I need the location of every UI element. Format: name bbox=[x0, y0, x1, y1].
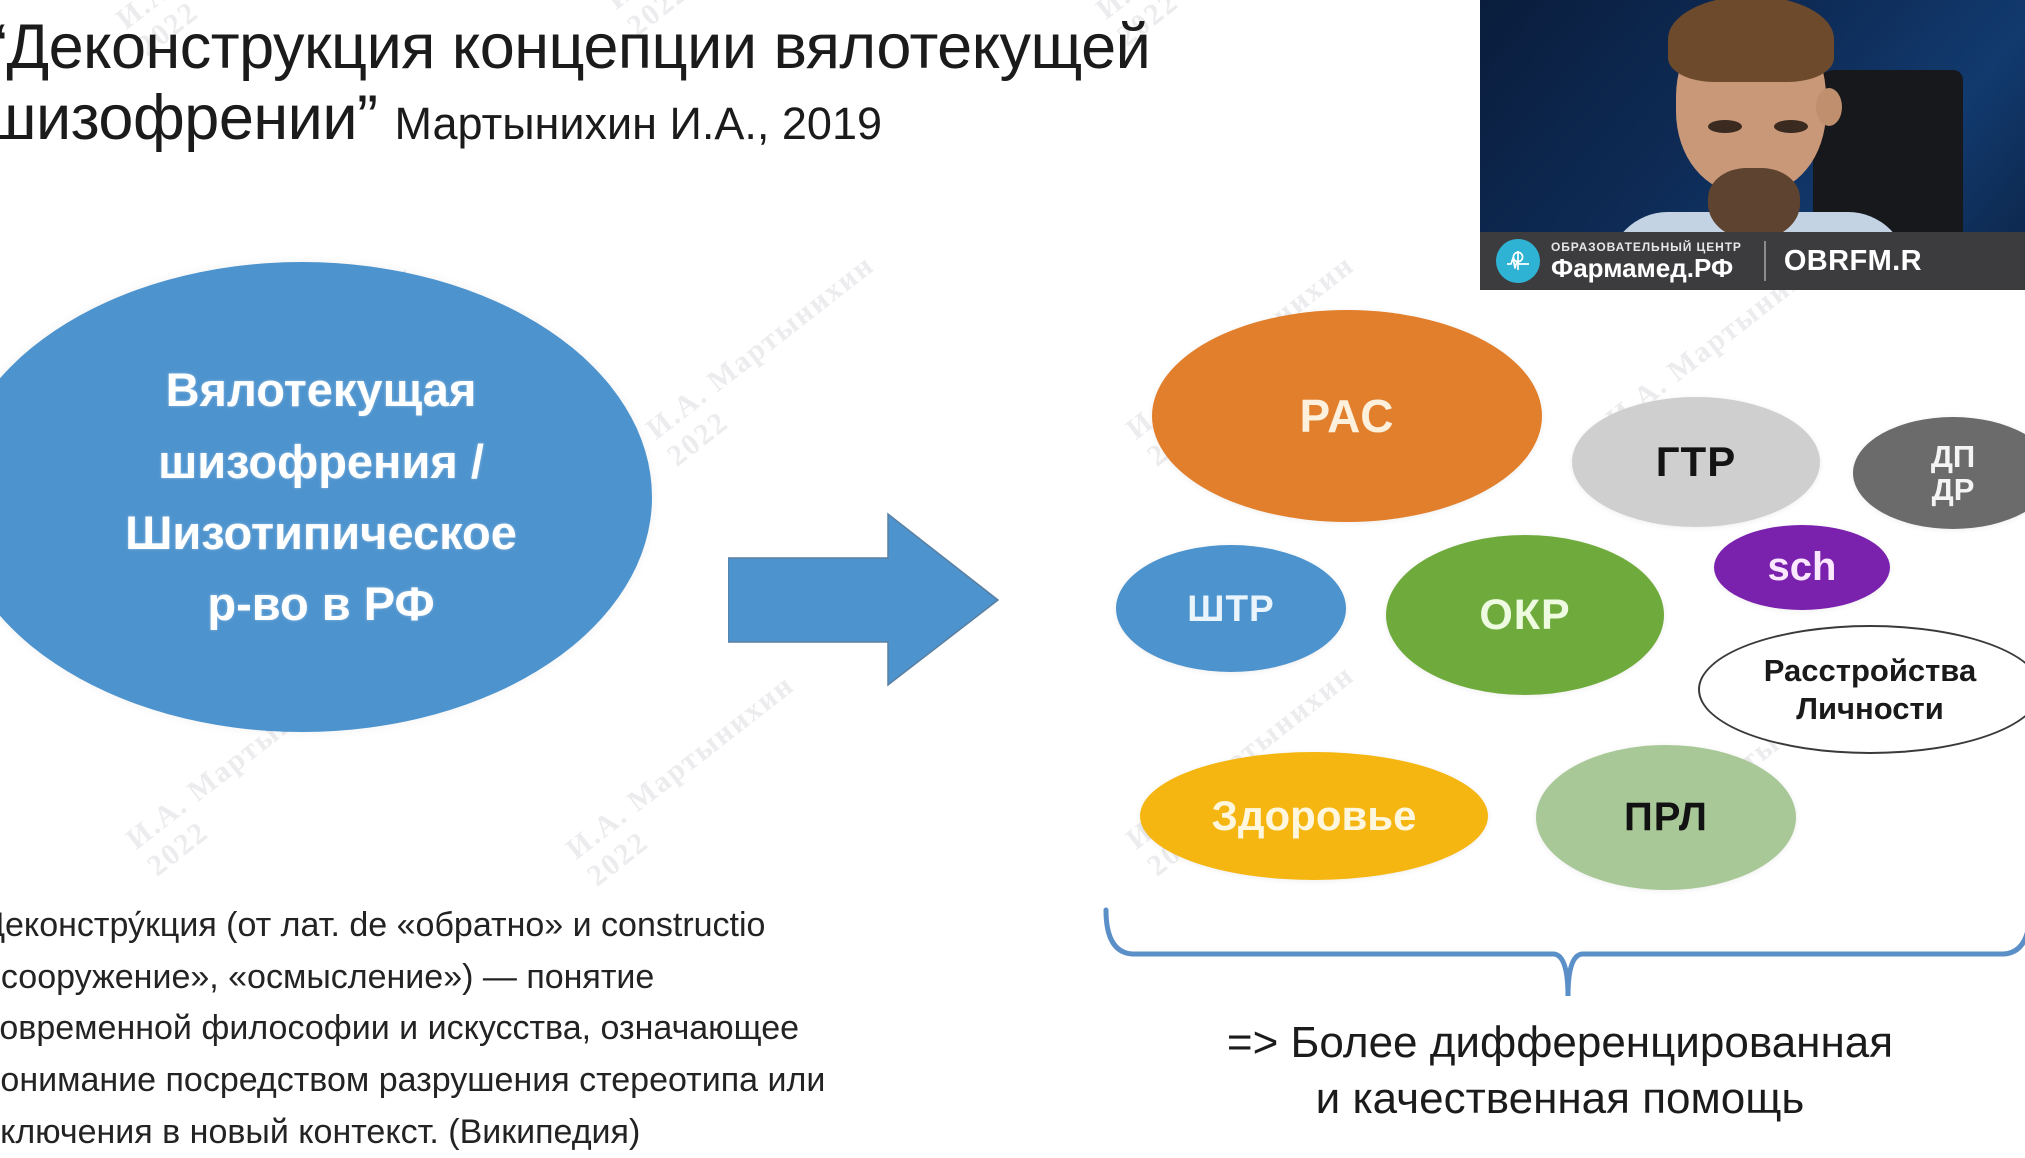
pharmamed-logo-icon bbox=[1496, 239, 1540, 283]
diagnosis-ellipse-health: Здоровье bbox=[1140, 752, 1488, 880]
title-line-2-text: шизофрении” bbox=[0, 83, 378, 153]
banner-divider bbox=[1764, 241, 1766, 281]
diagnosis-label-sch: sch bbox=[1768, 545, 1837, 590]
watermark: И.А. Мартынихин2022 bbox=[560, 668, 822, 894]
broadcast-banner: ОБРАЗОВАТЕЛЬНЫЙ ЦЕНТР Фармамед.РФ OBRFM.… bbox=[1480, 232, 2025, 290]
source-concept-label: Вялотекущая шизофрения / Шизотипическое … bbox=[87, 354, 517, 640]
speaker-eye-right bbox=[1774, 120, 1808, 133]
source-concept-line-4: р-во в РФ bbox=[125, 568, 517, 639]
dp-line: ДП bbox=[1931, 440, 1975, 473]
slide-title: “Деконструкция концепции вялотекущей шиз… bbox=[0, 12, 1126, 154]
definition-paragraph: Деконстру́кция (от лат. de «обратно» и c… bbox=[0, 900, 832, 1158]
source-concept-line-2: шизофрения / bbox=[125, 426, 517, 497]
caption-line-2: и качественная помощь bbox=[1090, 1071, 2025, 1127]
diagnosis-label-dp-dr: ДП ДР bbox=[1931, 440, 1975, 507]
source-concept-ellipse: Вялотекущая шизофрения / Шизотипическое … bbox=[0, 262, 652, 732]
speaker-eye-left bbox=[1708, 120, 1742, 133]
banner-eyebrow: ОБРАЗОВАТЕЛЬНЫЙ ЦЕНТР bbox=[1551, 241, 1742, 253]
speaker-video-overlay[interactable]: ОБРАЗОВАТЕЛЬНЫЙ ЦЕНТР Фармамед.РФ OBRFM.… bbox=[1480, 0, 2025, 290]
diagnosis-ellipse-okr: ОКР bbox=[1386, 535, 1664, 695]
diagnosis-ellipse-dp-dr: ДП ДР bbox=[1853, 417, 2025, 529]
diagnosis-ellipse-personality-disorders: Расстройства Личности bbox=[1698, 625, 2025, 754]
pd-line-1: Расстройства bbox=[1764, 652, 1976, 690]
banner-text-group: ОБРАЗОВАТЕЛЬНЫЙ ЦЕНТР Фармамед.РФ bbox=[1551, 241, 1742, 281]
title-author: Мартынихин И.А., 2019 bbox=[395, 98, 882, 149]
conclusion-caption: => Более дифференцированная и качественн… bbox=[1090, 1015, 2025, 1127]
pd-line-2: Личности bbox=[1764, 690, 1976, 728]
speaker-hair bbox=[1668, 0, 1834, 82]
logo-glyph-icon bbox=[1504, 247, 1532, 275]
presentation-slide: И.А. Мартынихин2022 И.А. Мартынихин2022 … bbox=[0, 0, 2025, 1158]
diagnosis-label-gtr: ГТР bbox=[1656, 438, 1736, 486]
source-concept-line-3: Шизотипическое bbox=[125, 497, 517, 568]
caption-line-1: => Более дифференцированная bbox=[1090, 1015, 2025, 1071]
diagnosis-label-health: Здоровье bbox=[1212, 792, 1417, 840]
watermark: И.А. Мартынихин2022 bbox=[640, 248, 902, 474]
curly-brace-icon bbox=[1098, 900, 2025, 1000]
dr-line: ДР bbox=[1931, 473, 1975, 506]
diagnosis-label-shtr: ШТР bbox=[1187, 588, 1274, 630]
diagnosis-label-pac: РАС bbox=[1300, 389, 1395, 443]
diagnosis-ellipse-shtr: ШТР bbox=[1116, 545, 1346, 672]
source-concept-line-1: Вялотекущая bbox=[125, 354, 517, 425]
diagnosis-label-personality-disorders: Расстройства Личности bbox=[1764, 652, 1976, 728]
banner-site-url: OBRFM.R bbox=[1784, 245, 1922, 278]
banner-title: Фармамед.РФ bbox=[1551, 255, 1742, 281]
diagnosis-ellipse-prl: ПРЛ bbox=[1536, 745, 1796, 890]
diagnosis-ellipse-gtr: ГТР bbox=[1572, 397, 1820, 527]
title-line-1: “Деконструкция концепции вялотекущей bbox=[0, 12, 1126, 83]
right-arrow-icon bbox=[728, 512, 1000, 687]
speaker-ear bbox=[1816, 88, 1842, 126]
diagnosis-ellipse-pac: РАС bbox=[1152, 310, 1542, 522]
title-line-2: шизофрении” Мартынихин И.А., 2019 bbox=[0, 83, 1126, 154]
speaker-beard bbox=[1708, 168, 1800, 240]
diagnosis-label-okr: ОКР bbox=[1479, 591, 1570, 640]
diagnosis-ellipse-sch: sch bbox=[1714, 525, 1890, 610]
diagnosis-label-prl: ПРЛ bbox=[1624, 795, 1708, 840]
